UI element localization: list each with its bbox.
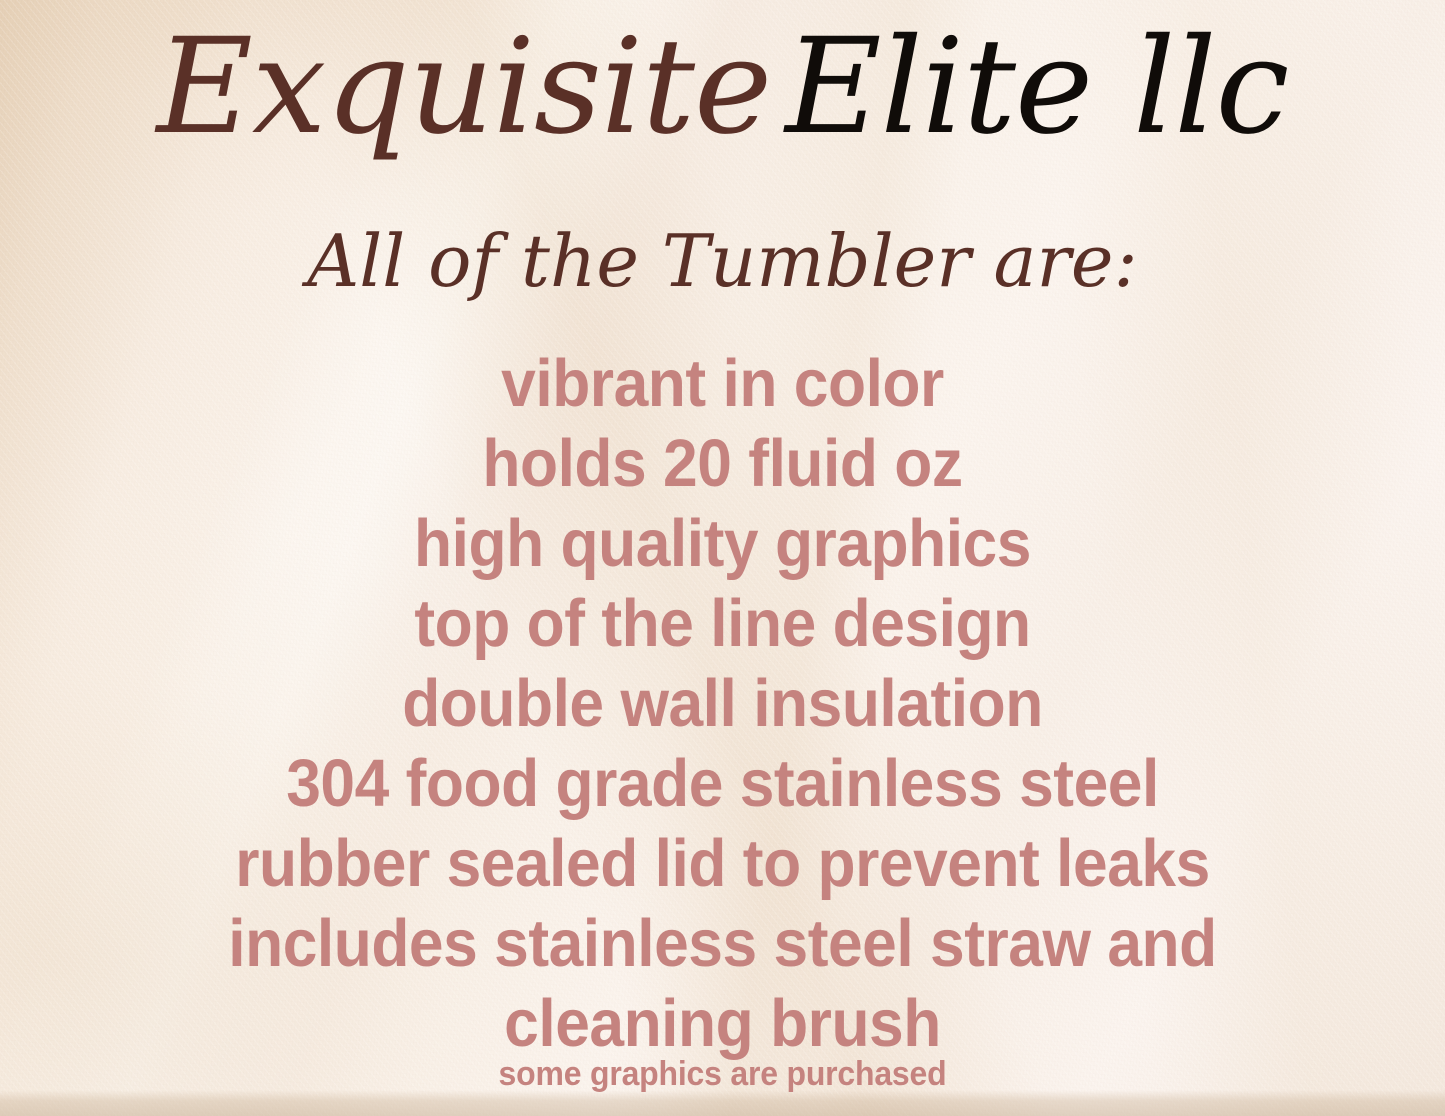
footnote-text: some graphics are purchased (43, 1054, 1401, 1094)
feature-item: vibrant in color (51, 344, 1395, 424)
subtitle-heading: All of the Tumbler are: (0, 222, 1445, 301)
brand-name-secondary: Elite llc (785, 10, 1288, 164)
brand-name-primary: Exquisite (157, 10, 786, 164)
feature-item: rubber sealed lid to prevent leaks (51, 824, 1395, 904)
feature-item: high quality graphics (51, 504, 1395, 584)
poster-content: ExquisiteElite llc All of the Tumbler ar… (0, 0, 1445, 1116)
feature-list: vibrant in color holds 20 fluid oz high … (0, 344, 1445, 1064)
feature-item: top of the line design (51, 584, 1395, 664)
feature-item: includes stainless steel straw and (51, 904, 1395, 984)
feature-item: holds 20 fluid oz (51, 424, 1395, 504)
feature-item: cleaning brush (51, 984, 1395, 1064)
product-info-poster: ExquisiteElite llc All of the Tumbler ar… (0, 0, 1445, 1116)
feature-item: double wall insulation (51, 664, 1395, 744)
brand-logo: ExquisiteElite llc (0, 14, 1445, 162)
feature-item: 304 food grade stainless steel (51, 744, 1395, 824)
